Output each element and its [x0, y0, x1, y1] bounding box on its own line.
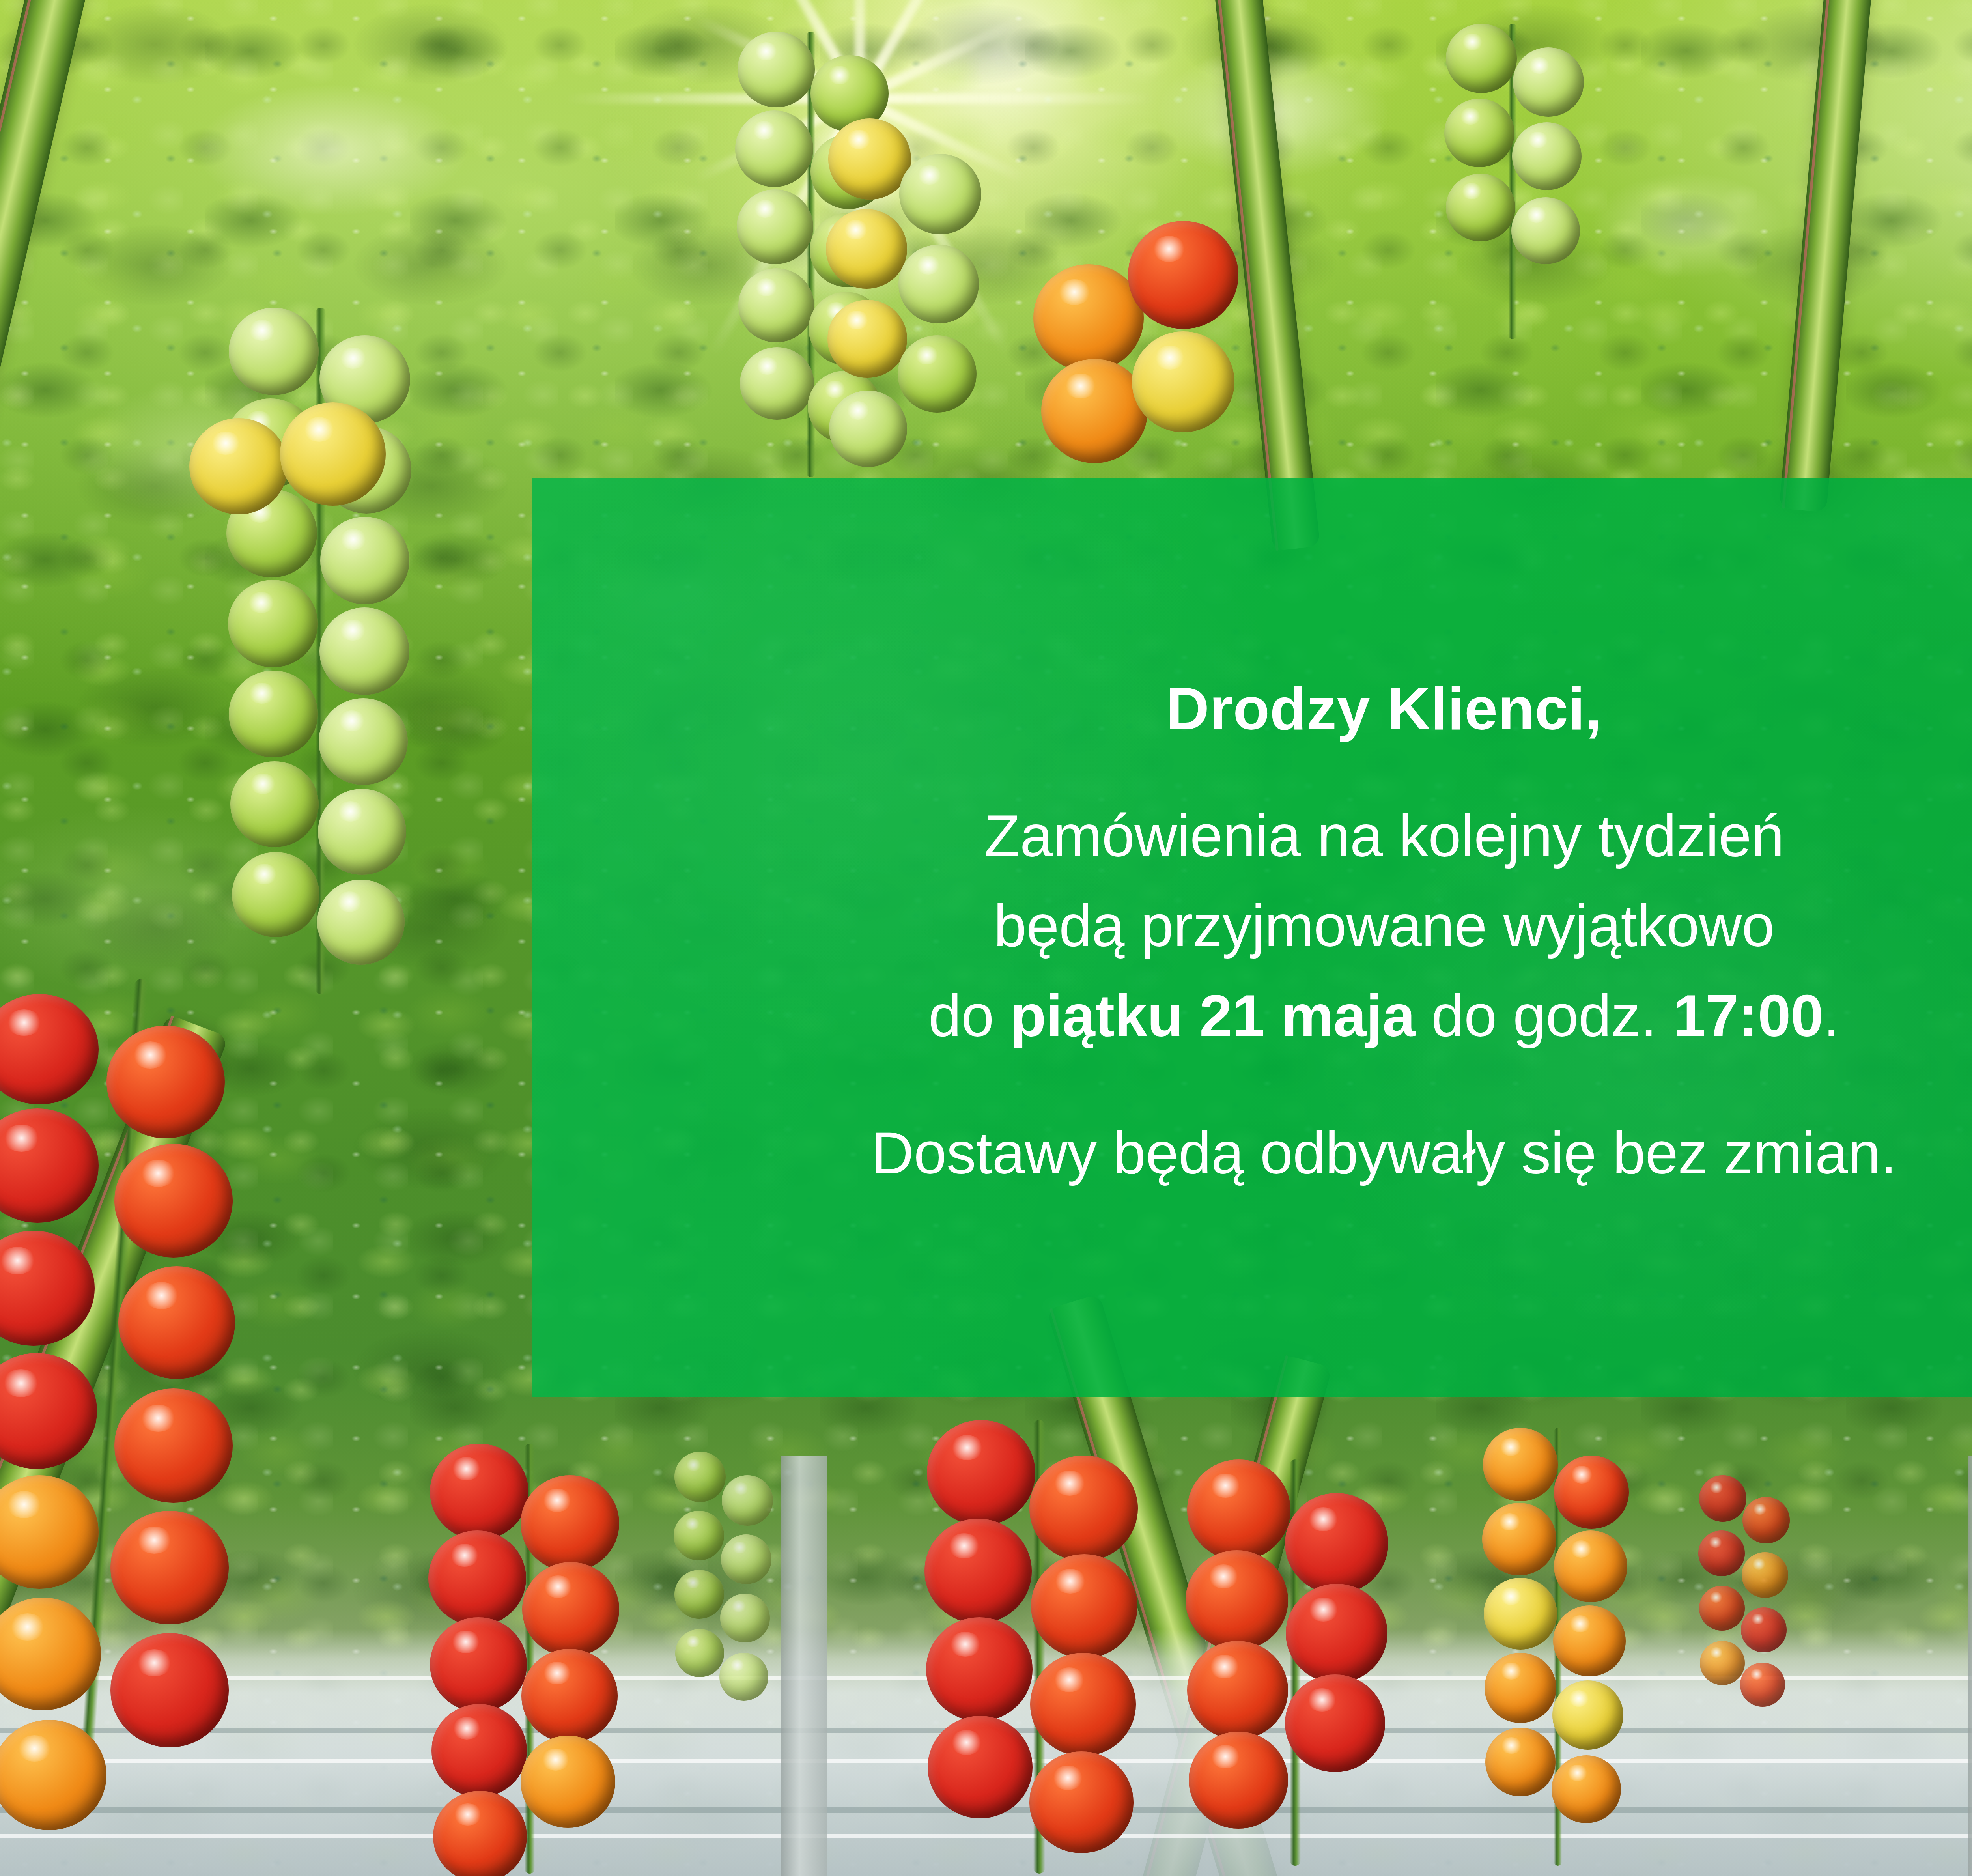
tomato: [927, 1420, 1035, 1526]
tomato: [1446, 174, 1515, 241]
tomato: [1740, 1663, 1785, 1707]
tomato: [735, 110, 813, 187]
truss-left-red: [0, 978, 276, 1807]
truss-topleft-yellow: [189, 402, 394, 544]
tomato: [0, 994, 99, 1104]
notice-paragraph-gap: [532, 1061, 1972, 1108]
tomato: [1741, 1607, 1787, 1652]
tomato: [928, 1716, 1033, 1818]
tomato: [1700, 1641, 1745, 1685]
tomato: [675, 1629, 724, 1677]
tomato: [1742, 1497, 1790, 1543]
notice-line-2: będą przyjmowane wyjątkowo: [532, 881, 1972, 971]
tomato: [1128, 221, 1238, 329]
tomato: [738, 32, 815, 107]
tomato: [926, 1617, 1033, 1721]
tomato: [1554, 1530, 1627, 1602]
tomato: [898, 245, 979, 323]
tomato: [1485, 1653, 1556, 1723]
truss-bottom-orange: [1479, 1428, 1645, 1876]
tomato: [229, 308, 319, 395]
tomato: [522, 1562, 619, 1657]
tomato: [318, 789, 406, 875]
tomato: [738, 268, 814, 342]
tomato: [1485, 1728, 1556, 1796]
tomato: [118, 1266, 235, 1379]
notice-deadline-time: 17:00: [1673, 983, 1823, 1049]
tomato: [1029, 1751, 1134, 1853]
tomato: [110, 1511, 229, 1624]
notice-line-3-prefix: do: [928, 983, 1010, 1049]
tomato: [1553, 1605, 1626, 1676]
tomato: [1033, 264, 1144, 372]
tomato: [721, 1534, 771, 1584]
tomato: [430, 1444, 528, 1540]
tomato: [899, 154, 981, 234]
tomato: [1186, 1550, 1288, 1650]
tomato: [1513, 47, 1584, 117]
tomato: [828, 118, 911, 200]
tomato: [1742, 1552, 1788, 1598]
tomato: [431, 1704, 527, 1797]
tomato: [1699, 1475, 1746, 1522]
tomato: [106, 1026, 225, 1138]
tomato: [827, 300, 907, 378]
truss-top-yellow: [820, 118, 986, 473]
truss-mid-red-bg: [1696, 1475, 1798, 1814]
tomato: [319, 607, 409, 695]
tomato: [1554, 1456, 1629, 1529]
tomato: [280, 402, 386, 506]
tomato: [1029, 1456, 1138, 1561]
truss-top-orange: [1033, 221, 1238, 473]
tomato: [1031, 1554, 1137, 1658]
tomato: [0, 1353, 97, 1469]
tomato: [521, 1475, 619, 1571]
notice-content: Drodzy Klienci, Zamówienia na kolejny ty…: [532, 677, 1972, 1198]
tomato: [430, 1617, 527, 1712]
notice-line-1: Zamówienia na kolejny tydzień: [532, 791, 1972, 881]
tomato: [189, 418, 288, 514]
announcement-image: Drodzy Klienci, Zamówienia na kolejny ty…: [0, 0, 1972, 1876]
tomato: [0, 1108, 99, 1223]
tomato: [428, 1530, 526, 1626]
tomato: [740, 347, 814, 420]
tomato: [110, 1633, 229, 1747]
tomato: [674, 1511, 724, 1560]
tomato: [1132, 331, 1234, 432]
notice-deadline-date: piątku 21 maja: [1010, 983, 1415, 1049]
tomato: [1285, 1493, 1388, 1594]
tomato: [924, 1519, 1032, 1624]
notice-delivery-note: Dostawy będą odbywały się bez zmian.: [532, 1108, 1972, 1198]
tomato: [1483, 1428, 1558, 1501]
tomato: [1512, 122, 1582, 190]
tomato: [0, 1231, 95, 1346]
notice-line-3-middle: do godz.: [1415, 983, 1673, 1049]
tomato: [720, 1594, 770, 1642]
tomato: [674, 1452, 726, 1502]
tomato: [826, 209, 907, 289]
tomato: [1285, 1674, 1385, 1772]
truss-mid-green-bg: [670, 1452, 789, 1807]
tomato: [674, 1570, 724, 1619]
greenhouse-post-right: [1968, 1456, 1972, 1876]
tomato: [1189, 1732, 1288, 1829]
notice-line-3-suffix: .: [1823, 983, 1839, 1049]
tomato: [521, 1649, 618, 1743]
tomato: [1482, 1503, 1556, 1575]
tomato: [433, 1791, 527, 1876]
tomato: [1698, 1530, 1745, 1576]
tomato: [722, 1475, 773, 1526]
notice-title: Drodzy Klienci,: [532, 677, 1972, 740]
tomato: [898, 335, 977, 413]
tomato: [1699, 1586, 1745, 1631]
tomato: [1446, 24, 1517, 93]
tomato: [228, 580, 318, 667]
truss-bottomcenter-red: [923, 1420, 1167, 1876]
tomato: [230, 761, 319, 847]
tomato: [1286, 1584, 1387, 1683]
tomato: [829, 391, 907, 467]
tomato: [737, 189, 813, 264]
truss-bottomleft-red: [426, 1444, 647, 1876]
tomato: [229, 671, 318, 757]
tomato: [319, 698, 408, 785]
tomato: [0, 1475, 99, 1589]
tomato: [1041, 359, 1148, 463]
tomato: [317, 880, 405, 965]
tomato: [1444, 99, 1514, 167]
tomato: [719, 1653, 768, 1701]
notice-panel: Drodzy Klienci, Zamówienia na kolejny ty…: [532, 478, 1972, 1397]
notice-line-3: do piątku 21 maja do godz. 17:00.: [532, 971, 1972, 1061]
tomato: [521, 1736, 615, 1828]
tomato: [1511, 197, 1580, 264]
tomato: [1187, 1641, 1288, 1740]
tomato: [1484, 1578, 1557, 1650]
tomato: [114, 1144, 233, 1258]
tomato: [1552, 1680, 1623, 1750]
truss-topright-green: [1440, 24, 1589, 347]
tomato: [1552, 1755, 1621, 1823]
tomato: [1187, 1459, 1290, 1560]
tomato: [232, 852, 319, 937]
tomato: [1030, 1653, 1136, 1756]
truss-bottomcenterright-red: [1183, 1459, 1420, 1876]
tomato: [114, 1388, 233, 1503]
